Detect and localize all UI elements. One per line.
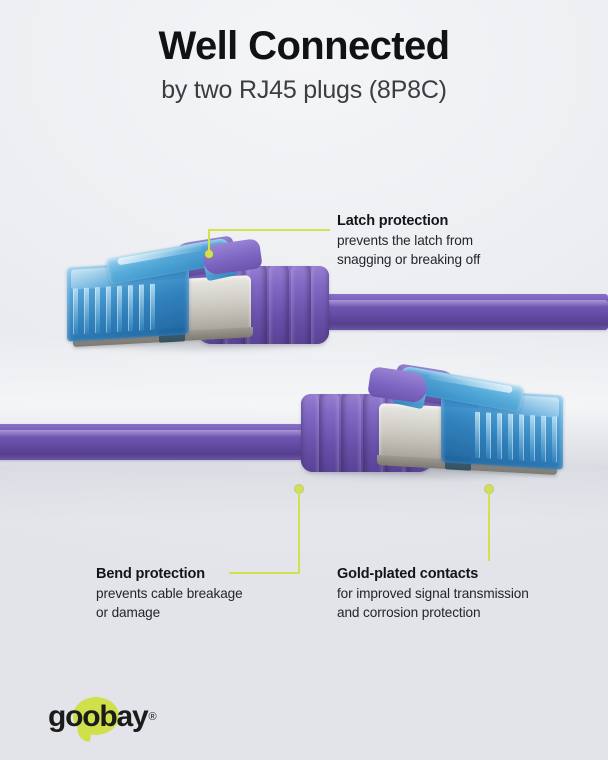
contact-pin — [106, 286, 111, 332]
contact-pin — [508, 414, 513, 460]
leader-line-latch-vertical — [208, 229, 210, 255]
contact-pin — [128, 285, 133, 331]
callout-description-line: for improved signal transmission — [337, 584, 529, 603]
leader-line-latch-horizontal — [208, 229, 330, 231]
contact-pin — [541, 416, 546, 462]
leader-line-bend-vertical — [298, 489, 300, 573]
leader-line-gold-vertical — [488, 489, 490, 561]
brand-name: goobay — [48, 702, 147, 732]
callout-title: Bend protection — [96, 565, 243, 584]
callout-bend-protection: Bend protection prevents cable breakage … — [96, 565, 243, 622]
page-subtitle: by two RJ45 plugs (8P8C) — [0, 76, 608, 105]
contact-pin — [475, 412, 480, 458]
callout-description-line: prevents cable breakage — [96, 584, 243, 603]
contact-pin — [519, 414, 524, 460]
contact-pin — [552, 416, 557, 462]
rj45-connector-upper — [55, 240, 355, 355]
callout-gold-plated-contacts: Gold-plated contacts for improved signal… — [337, 565, 529, 622]
contact-pin — [530, 415, 535, 461]
contact-pin — [150, 284, 155, 330]
gold-plated-contacts — [467, 411, 559, 464]
gold-plated-contacts — [71, 283, 163, 336]
boot-rib — [301, 394, 319, 472]
header-block: Well Connected by two RJ45 plugs (8P8C) — [0, 24, 608, 105]
contact-pin — [95, 287, 100, 333]
registered-trademark-icon: ® — [148, 711, 156, 723]
contact-pin — [497, 413, 502, 459]
callout-description-line: and corrosion protection — [337, 603, 529, 622]
callout-title: Latch protection — [337, 212, 480, 231]
callout-title: Gold-plated contacts — [337, 565, 529, 584]
callout-description-line: or damage — [96, 603, 243, 622]
contact-pin — [139, 284, 144, 330]
contact-pin — [486, 412, 491, 458]
callout-latch-protection: Latch protection prevents the latch from… — [337, 212, 480, 269]
callout-description-line: snagging or breaking off — [337, 250, 480, 269]
brand-logo: goobay ® — [48, 700, 157, 734]
page-title: Well Connected — [0, 24, 608, 69]
rj45-connector-lower — [275, 368, 575, 486]
boot-rib — [341, 394, 361, 472]
cable-segment-upper — [316, 294, 608, 330]
boot-rib — [269, 266, 289, 344]
callout-description-line: prevents the latch from — [337, 231, 480, 250]
contact-pin — [117, 286, 122, 332]
contact-pin — [84, 288, 89, 334]
boot-rib — [319, 394, 339, 472]
boot-rib — [311, 266, 329, 344]
infographic-canvas: Well Connected by two RJ45 plugs (8P8C) — [0, 0, 608, 760]
contact-pin — [73, 288, 78, 334]
boot-rib — [291, 266, 311, 344]
